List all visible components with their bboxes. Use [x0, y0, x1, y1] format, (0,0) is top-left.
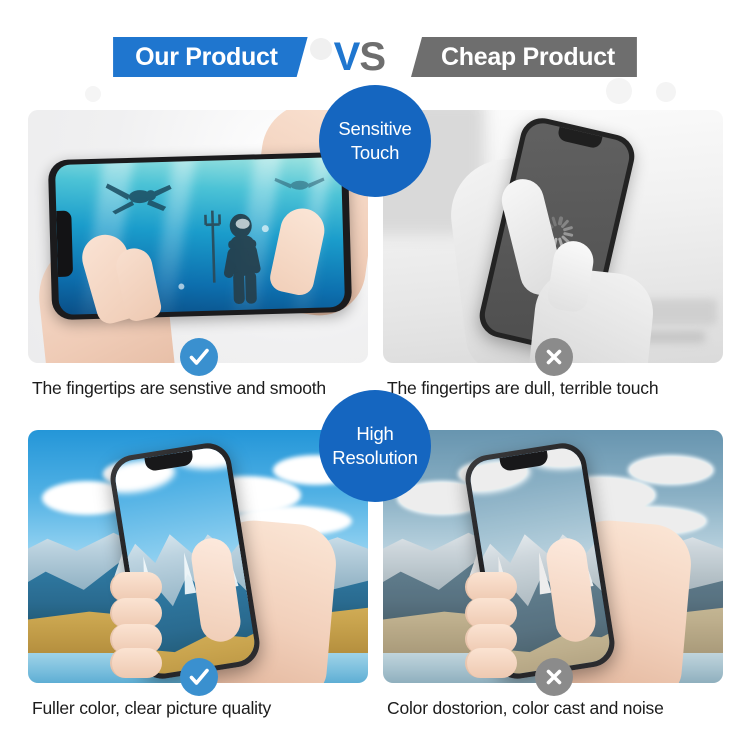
- check-glyph: [187, 345, 211, 369]
- panel-caption: The fingertips are senstive and smooth: [32, 378, 368, 399]
- cross-glyph: [542, 665, 566, 689]
- cross-glyph: [542, 345, 566, 369]
- panel-sensitive-touch-cheap: The fingertips are dull, terrible touch: [383, 100, 723, 420]
- check-glyph: [187, 665, 211, 689]
- photo-ours-landscape: [28, 430, 368, 683]
- our-product-banner: Our Product: [113, 37, 308, 77]
- diver-silhouette-far: [271, 171, 328, 199]
- panel-sensitive-touch-ours: The fingertips are senstive and smooth: [28, 100, 368, 420]
- feature-badge-line1: High: [356, 422, 393, 446]
- photo-cheap-loading: [383, 110, 723, 363]
- photo-ours-game: [28, 110, 368, 363]
- finger: [465, 648, 517, 678]
- vs-letter-s: S: [359, 35, 385, 79]
- finger: [110, 648, 162, 678]
- cross-icon: [535, 658, 573, 696]
- comparison-infographic: Our Product VS Cheap Product: [0, 0, 750, 750]
- cheap-product-banner: Cheap Product: [411, 37, 637, 77]
- feature-badge-line2: Resolution: [332, 446, 417, 470]
- scene-underwater-game: [28, 110, 368, 363]
- feature-badge-line2: Touch: [351, 141, 399, 165]
- phone-notch: [557, 127, 603, 150]
- diver-silhouette-main: [198, 203, 273, 309]
- fingers: [110, 572, 166, 678]
- check-icon: [180, 658, 218, 696]
- fingers: [465, 572, 521, 678]
- panel-high-resolution-ours: Fuller color, clear picture quality: [28, 420, 368, 740]
- photo-cheap-landscape: [383, 430, 723, 683]
- cross-icon: [535, 338, 573, 376]
- scene-loading-phone: [383, 110, 723, 363]
- panel-high-resolution-cheap: Color dostorion, color cast and noise: [383, 420, 723, 740]
- phone-notch: [56, 211, 73, 277]
- vs-letter-v: V: [334, 35, 360, 79]
- feature-badge-high-resolution: High Resolution: [319, 390, 431, 502]
- feature-badge-line1: Sensitive: [338, 117, 411, 141]
- panel-caption: The fingertips are dull, terrible touch: [387, 378, 723, 399]
- panel-caption: Fuller color, clear picture quality: [32, 698, 368, 719]
- check-icon: [180, 338, 218, 376]
- header-banner-row: Our Product VS Cheap Product: [0, 26, 750, 88]
- diver-silhouette-top: [101, 176, 176, 218]
- bubble: [178, 283, 184, 289]
- panel-caption: Color dostorion, color cast and noise: [387, 698, 723, 719]
- vs-label: VS: [322, 37, 397, 77]
- feature-badge-sensitive-touch: Sensitive Touch: [319, 85, 431, 197]
